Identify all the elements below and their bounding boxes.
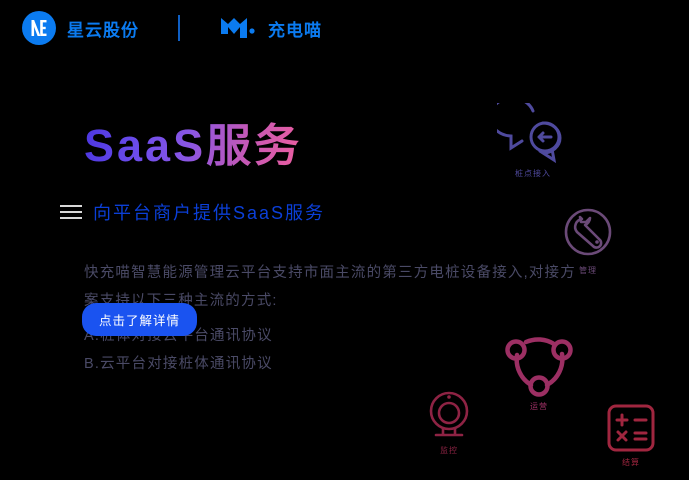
hero-subtitle-row: 向平台商户提供SaaS服务 (60, 199, 420, 225)
decor-label: 桩点接入 (515, 168, 551, 179)
page-title: SaaS服务 (84, 120, 302, 172)
decor-wrench: 管理 (560, 206, 616, 276)
calculator-icon (605, 402, 657, 454)
hero-section: SaaS服务 向平台商户提供SaaS服务 快充喵智慧能源管理云平台支持市面主流的… (0, 120, 420, 378)
chongdianmiao-logo-icon (219, 15, 261, 41)
decor-label: 运营 (530, 401, 548, 412)
chat-bubbles-icon (497, 103, 569, 165)
brand-primary-name: 星云股份 (67, 16, 139, 41)
decor-chat-bubbles: 桩点接入 (497, 103, 569, 179)
menu-lines-icon (60, 201, 82, 223)
wrench-icon (560, 206, 616, 262)
brand-secondary-name: 充电喵 (268, 16, 322, 41)
decor-label: 管理 (579, 265, 597, 276)
hero-subtitle: 向平台商户提供SaaS服务 (93, 199, 325, 225)
decor-label: 监控 (440, 445, 458, 456)
header-divider (178, 15, 180, 41)
decor-network: 运营 (500, 328, 578, 412)
list-item: B.云平台对接桩体通讯协议 (84, 350, 420, 378)
decor-calculator: 结算 (605, 402, 657, 468)
camera-icon (423, 390, 475, 442)
learn-more-button[interactable]: 点击了解详情 (82, 303, 197, 336)
brand-primary[interactable]: 星云股份 (22, 11, 139, 45)
decor-camera: 监控 (423, 390, 475, 456)
page-header: 星云股份 充电喵 (0, 0, 689, 56)
brand-secondary[interactable]: 充电喵 (219, 15, 322, 41)
network-nodes-icon (500, 328, 578, 398)
xingyun-logo-icon (22, 11, 56, 45)
decor-label: 结算 (622, 457, 640, 468)
